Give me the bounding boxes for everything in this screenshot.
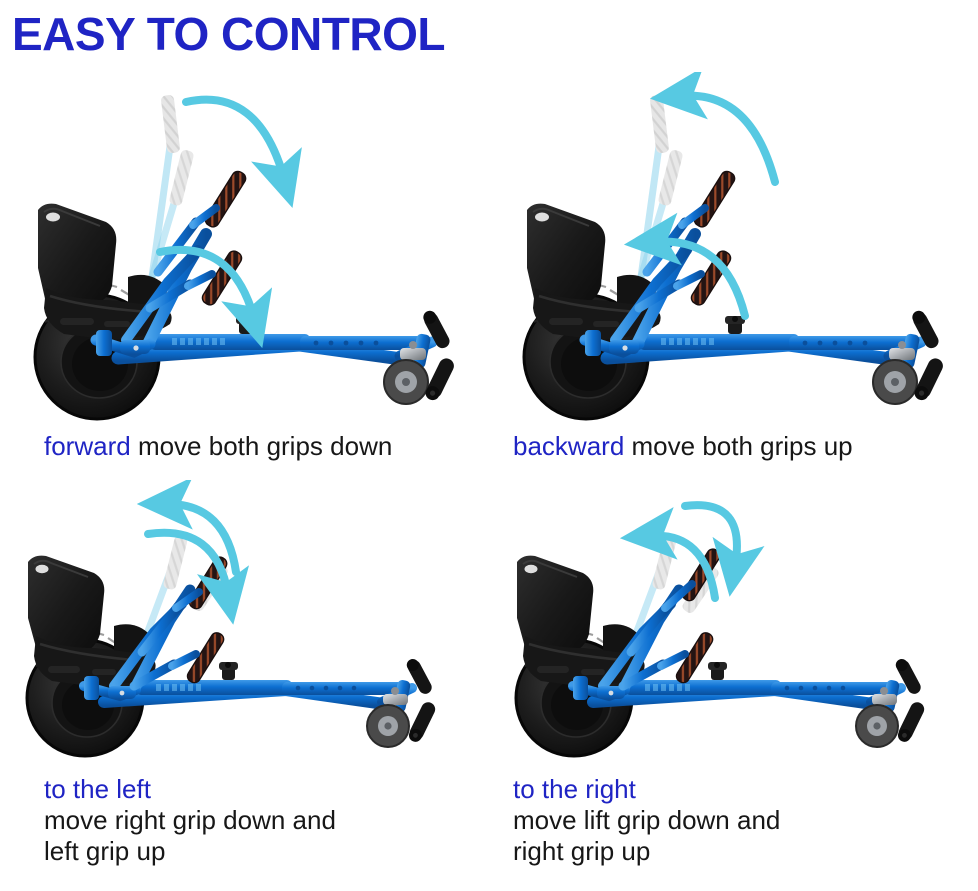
caption-keyword: to the right bbox=[513, 774, 636, 804]
product-feature-page: EASY TO CONTROL bbox=[0, 0, 978, 891]
page-title: EASY TO CONTROL bbox=[12, 6, 445, 62]
caption-line-2: move right grip down and bbox=[44, 805, 484, 836]
panel-to-the-right: to the right move lift grip down and rig… bbox=[489, 480, 978, 885]
caption-line-3: right grip up bbox=[513, 836, 953, 867]
caption-instruction: move both grips up bbox=[632, 431, 853, 461]
caption-keyword: forward bbox=[44, 431, 131, 461]
kart-illustration-backward bbox=[489, 72, 978, 427]
kart-illustration-left bbox=[0, 480, 489, 770]
caption-instruction: move both grips down bbox=[138, 431, 392, 461]
panel-to-the-left: to the left move right grip down and lef… bbox=[0, 480, 489, 885]
panel-forward: forward move both grips down bbox=[0, 72, 489, 477]
front-caster-wheel bbox=[873, 341, 917, 404]
kart-illustration-forward bbox=[0, 72, 489, 427]
foot-pegs bbox=[894, 656, 927, 744]
seat bbox=[28, 556, 156, 687]
panel-backward: backward move both grips up bbox=[489, 72, 978, 477]
caption-to-the-right: to the right move lift grip down and rig… bbox=[513, 774, 953, 867]
seat bbox=[517, 556, 645, 687]
adjustment-knob bbox=[725, 316, 745, 334]
adjustment-knob bbox=[219, 662, 238, 680]
front-caster-wheel bbox=[367, 687, 409, 747]
motion-arrow-upper bbox=[681, 96, 775, 182]
caption-line-3: left grip up bbox=[44, 836, 484, 867]
front-caster-wheel bbox=[856, 687, 898, 747]
foot-pegs bbox=[405, 656, 438, 744]
caption-keyword: backward bbox=[513, 431, 624, 461]
caption-to-the-left: to the left move right grip down and lef… bbox=[44, 774, 484, 867]
caption-backward: backward move both grips up bbox=[513, 431, 953, 462]
caption-keyword: to the left bbox=[44, 774, 151, 804]
motion-arrow-upper bbox=[186, 100, 284, 178]
caption-line-2: move lift grip down and bbox=[513, 805, 953, 836]
kart-illustration-right bbox=[489, 480, 978, 770]
caption-forward: forward move both grips down bbox=[44, 431, 484, 462]
adjustment-knob bbox=[708, 662, 727, 680]
front-caster-wheel bbox=[384, 341, 428, 404]
